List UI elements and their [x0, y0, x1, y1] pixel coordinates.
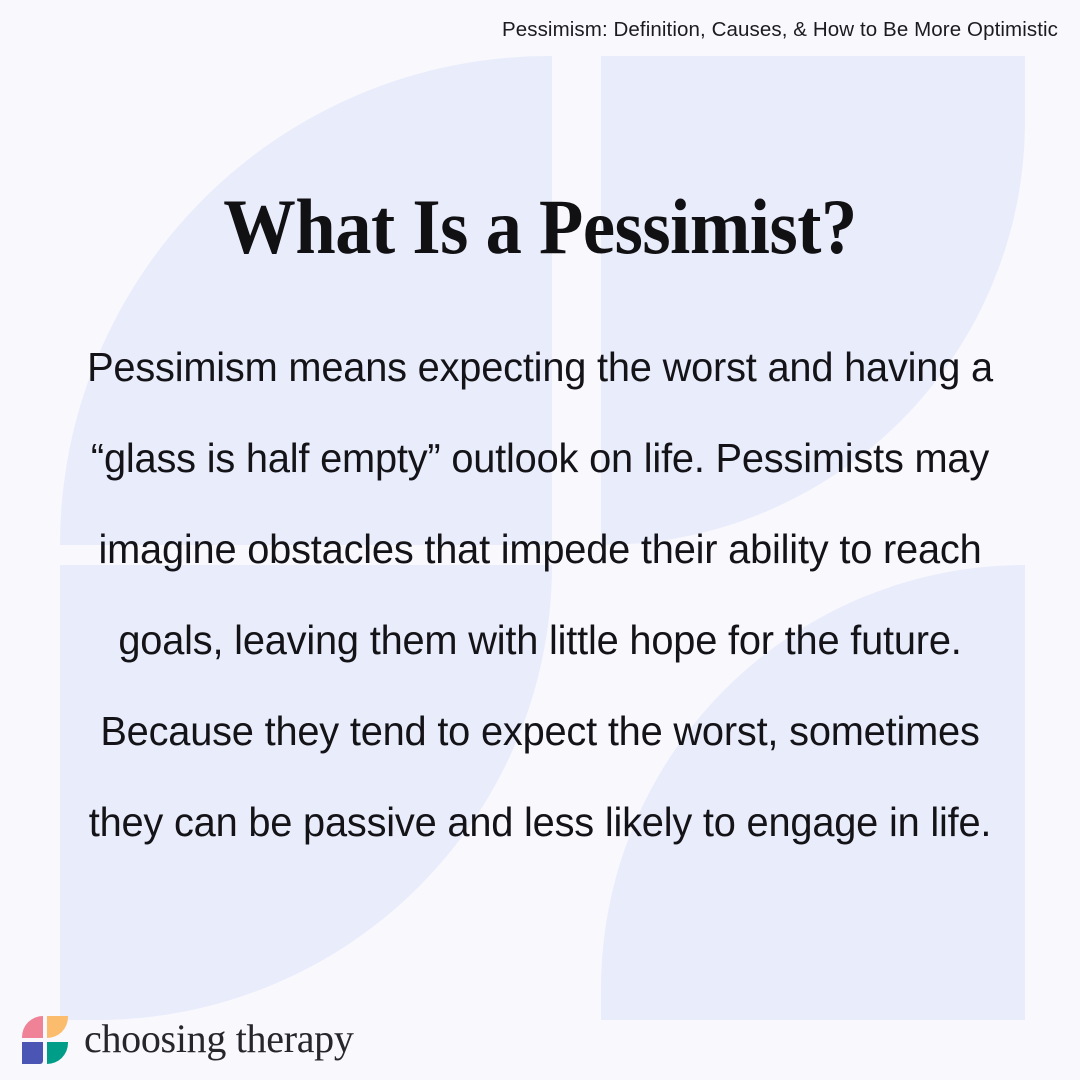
page-title: What Is a Pessimist?: [38, 186, 1042, 268]
mark-quadrant-bottom-right: [47, 1042, 68, 1064]
body-paragraph: Pessimism means expecting the worst and …: [74, 322, 1005, 868]
card-content: Pessimism: Definition, Causes, & How to …: [0, 0, 1080, 1080]
mark-quadrant-top-right: [47, 1016, 68, 1038]
mark-quadrant-top-left: [22, 1016, 43, 1038]
body-line: Pessimism means expecting the worst and …: [74, 322, 1005, 413]
mark-quadrant-bottom-left: [22, 1042, 43, 1064]
choosing-therapy-mark-icon: [22, 1016, 70, 1066]
brand-wordmark: choosing therapy: [84, 1019, 354, 1063]
body-line: “glass is half empty” outlook on life. P…: [74, 413, 1005, 504]
brand-logo: choosing therapy: [22, 1016, 354, 1066]
article-source-title: Pessimism: Definition, Causes, & How to …: [502, 18, 1058, 42]
body-line: imagine obstacles that impede their abil…: [74, 504, 1005, 595]
body-line: Because they tend to expect the worst, s…: [74, 686, 1005, 777]
body-line: goals, leaving them with little hope for…: [74, 595, 1005, 686]
body-line: they can be passive and less likely to e…: [74, 777, 1005, 868]
infographic-card: Pessimism: Definition, Causes, & How to …: [0, 0, 1080, 1080]
